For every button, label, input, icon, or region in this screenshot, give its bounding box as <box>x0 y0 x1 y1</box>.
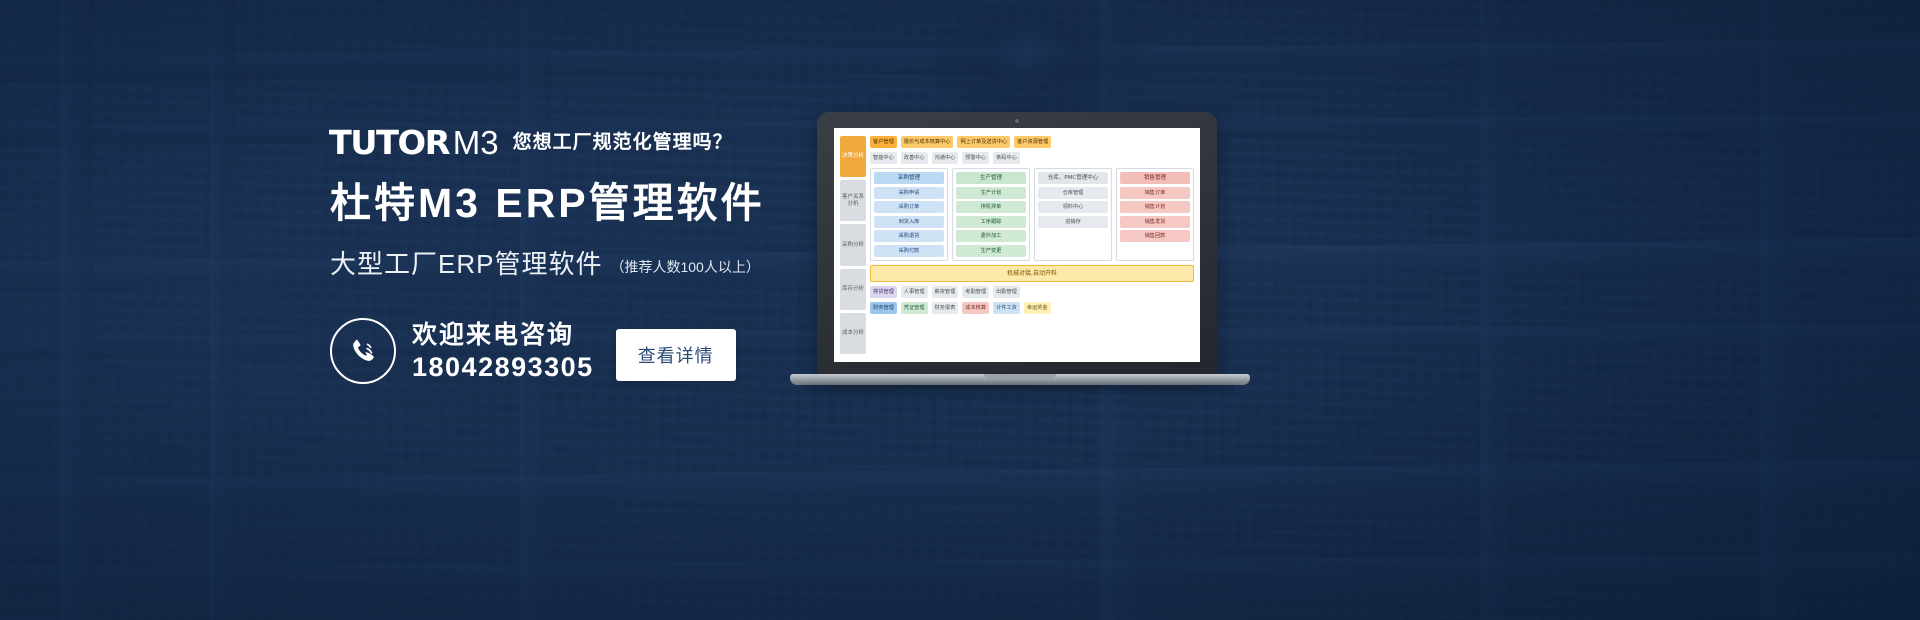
diagram-main: 客户管理 报价与成本核算中心 网上订单及送货中心 客户资源管理 智能中心 改善中… <box>870 136 1194 354</box>
logo-wordmark-tutor: TUTOR <box>329 126 449 160</box>
diagram-chip: 排货管理 <box>870 286 897 298</box>
panel-item: 销售订单 <box>1120 187 1190 199</box>
panel-title: 生产管理 <box>956 172 1026 184</box>
diagram-row-customer: 客户管理 报价与成本核算中心 网上订单及送货中心 客户资源管理 <box>870 136 1194 148</box>
phone-call-icon <box>330 318 396 384</box>
subtitle-row: 大型工厂ERP管理软件 （推荐人数100人以上） <box>330 244 870 281</box>
subtitle-text: 大型工厂ERP管理软件 <box>330 244 602 281</box>
panel-item: 进销存 <box>1038 216 1108 228</box>
banner-content: TUTOR M3 您想工厂规范化管理吗？ 杜特M3 ERP管理软件 大型工厂ER… <box>0 0 1920 620</box>
diagram-chip: 沟通中心 <box>932 152 959 164</box>
panel-item: 采购申请 <box>874 187 944 199</box>
diagram-chip: 薪资管理 <box>932 286 959 298</box>
laptop-mockup: 决策分析 客户关系分析 采购分析 库存分析 成本分析 客户管理 报价与成本核算中… <box>790 112 1250 402</box>
diagram-chip: 计件工资 <box>993 302 1020 314</box>
diagram-chip: 改善中心 <box>901 152 928 164</box>
panel-item: 排机排单 <box>956 201 1026 213</box>
diagram-chip: 幸运奖金 <box>1024 302 1051 314</box>
panel-title: 仓库、PMC管理中心 <box>1038 172 1108 184</box>
rail-item: 客户关系分析 <box>840 180 866 221</box>
panel-item: 生产变更 <box>956 245 1026 257</box>
panel-item: 仓库管理 <box>1038 187 1108 199</box>
diagram-chip: 凭证管理 <box>901 302 928 314</box>
panel-item: 销售计划 <box>1120 201 1190 213</box>
rail-item: 采购分析 <box>840 224 866 265</box>
rail-item: 成本分析 <box>840 313 866 354</box>
laptop-trackpad-notch <box>984 374 1056 379</box>
diagram-chip: 出勤管理 <box>993 286 1020 298</box>
rail-item: 决策分析 <box>840 136 866 177</box>
diagram-row-hr: 排货管理 人事管理 薪资管理 考勤管理 出勤管理 <box>870 286 1194 298</box>
diagram-row-finance: 财务管理 凭证管理 财务报表 成本核算 计件工资 幸运奖金 <box>870 302 1194 314</box>
erp-architecture-diagram: 决策分析 客户关系分析 采购分析 库存分析 成本分析 客户管理 报价与成本核算中… <box>834 128 1200 362</box>
phone-number[interactable]: 18042893305 <box>412 352 594 383</box>
webcam-icon <box>1015 119 1019 123</box>
rail-item: 库存分析 <box>840 269 866 310</box>
diagram-chip: 成本核算 <box>962 302 989 314</box>
panel-item: 到货入库 <box>874 216 944 228</box>
diagram-panel-purchasing: 采购管理 采购申请 采购订单 到货入库 采购退货 采购付款 <box>870 168 948 261</box>
panel-item: 销售发货 <box>1120 216 1190 228</box>
diagram-chip: 财务管理 <box>870 302 897 314</box>
brand-tagline: 您想工厂规范化管理吗？ <box>513 128 733 158</box>
diagram-chip: 客户管理 <box>870 136 897 148</box>
panel-item: 采购订单 <box>874 201 944 213</box>
diagram-chip: 预警中心 <box>962 152 989 164</box>
brand-logo-row: TUTOR M3 您想工厂规范化管理吗？ <box>330 118 870 160</box>
panel-title: 采购管理 <box>874 172 944 184</box>
panel-item: 采购付款 <box>874 245 944 257</box>
panel-item: 工序跟踪 <box>956 216 1026 228</box>
diagram-left-rail: 决策分析 客户关系分析 采购分析 库存分析 成本分析 <box>840 136 866 354</box>
diagram-chip: 考勤管理 <box>962 286 989 298</box>
phone-text-block: 欢迎来电咨询 18042893305 <box>412 320 594 383</box>
diagram-panel-warehouse: 仓库、PMC管理中心 仓库管理 领料中心 进销存 <box>1034 168 1112 261</box>
panel-item: 销售回款 <box>1120 230 1190 242</box>
hero-banner: TUTOR M3 您想工厂规范化管理吗？ 杜特M3 ERP管理软件 大型工厂ER… <box>0 0 1920 620</box>
diagram-chip: 财务报表 <box>932 302 959 314</box>
contact-cta-row: 欢迎来电咨询 18042893305 查看详情 <box>330 318 736 384</box>
diagram-panel-sales: 销售管理 销售订单 销售计划 销售发货 销售回款 <box>1116 168 1194 261</box>
view-details-button[interactable]: 查看详情 <box>616 329 736 381</box>
panel-item: 生产计划 <box>956 187 1026 199</box>
logo-wordmark-m3: M3 <box>453 126 499 160</box>
diagram-chip: 客户资源管理 <box>1014 136 1051 148</box>
laptop-screen: 决策分析 客户关系分析 采购分析 库存分析 成本分析 客户管理 报价与成本核算中… <box>834 128 1200 362</box>
text-column: TUTOR M3 您想工厂规范化管理吗？ 杜特M3 ERP管理软件 大型工厂ER… <box>330 118 870 281</box>
subtitle-note: （推荐人数100人以上） <box>610 257 759 277</box>
contact-invite-label: 欢迎来电咨询 <box>412 320 594 350</box>
diagram-chip: 条码中心 <box>993 152 1020 164</box>
diagram-chip: 网上订单及送货中心 <box>957 136 1010 148</box>
diagram-chip: 人事管理 <box>901 286 928 298</box>
panel-item: 委外加工 <box>956 230 1026 242</box>
page-title: 杜特M3 ERP管理软件 <box>330 178 870 228</box>
laptop-shadow <box>804 385 1236 392</box>
diagram-chip: 智能中心 <box>870 152 897 164</box>
panel-title: 销售管理 <box>1120 172 1190 184</box>
panel-item: 领料中心 <box>1038 201 1108 213</box>
diagram-highlight-banner: 机械对接,自动开料 <box>870 265 1194 282</box>
diagram-panels: 采购管理 采购申请 采购订单 到货入库 采购退货 采购付款 生产管理 生产计划 <box>870 168 1194 261</box>
laptop-lid: 决策分析 客户关系分析 采购分析 库存分析 成本分析 客户管理 报价与成本核算中… <box>817 112 1217 378</box>
diagram-chip: 报价与成本核算中心 <box>901 136 954 148</box>
panel-item: 采购退货 <box>874 230 944 242</box>
diagram-panel-production: 生产管理 生产计划 排机排单 工序跟踪 委外加工 生产变更 <box>952 168 1030 261</box>
diagram-row-smart: 智能中心 改善中心 沟通中心 预警中心 条码中心 <box>870 152 1194 164</box>
